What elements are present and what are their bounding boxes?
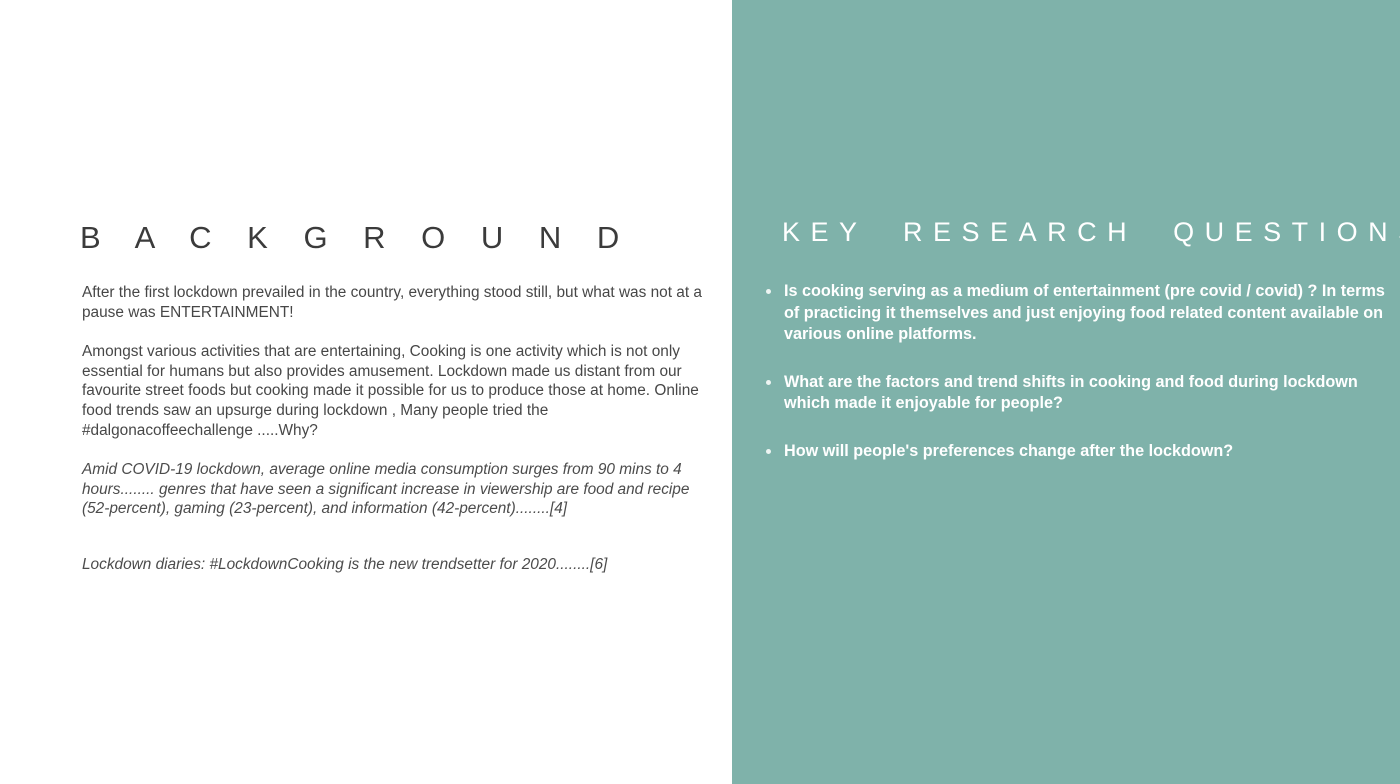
list-item: What are the factors and trend shifts in… (746, 372, 1391, 415)
background-body: After the first lockdown prevailed in th… (82, 283, 710, 575)
list-item: Is cooking serving as a medium of entert… (746, 281, 1391, 346)
research-question-text: What are the factors and trend shifts in… (784, 373, 1358, 413)
bullet-dot-icon (766, 289, 771, 294)
background-heading: B A C K G R O U N D (80, 221, 633, 255)
bullet-dot-icon (766, 449, 771, 454)
research-questions-list: Is cooking serving as a medium of entert… (746, 281, 1391, 462)
research-question-text: How will people's preferences change aft… (784, 442, 1233, 460)
slide-root: B A C K G R O U N D After the first lock… (0, 0, 1400, 784)
background-citation-quote-1: Amid COVID-19 lockdown, average online m… (82, 460, 710, 519)
quote-spacer (82, 519, 710, 555)
research-question-text: Is cooking serving as a medium of entert… (784, 282, 1385, 343)
list-item: How will people's preferences change aft… (746, 441, 1391, 463)
key-research-questions-panel: KEY RESEARCH QUESTIONS Is cooking servin… (732, 0, 1400, 784)
background-paragraph-1: After the first lockdown prevailed in th… (82, 283, 710, 322)
key-research-questions-heading: KEY RESEARCH QUESTIONS (782, 218, 1400, 248)
background-panel: B A C K G R O U N D After the first lock… (0, 0, 732, 784)
background-citation-quote-2: Lockdown diaries: #LockdownCooking is th… (82, 555, 710, 575)
bullet-dot-icon (766, 380, 771, 385)
background-paragraph-2: Amongst various activities that are ente… (82, 342, 710, 440)
